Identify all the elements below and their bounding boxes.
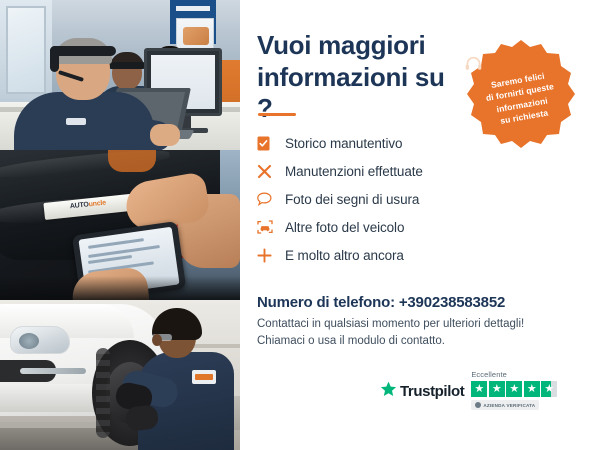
- tire-tread: [96, 348, 110, 438]
- trustpilot-logo: Trustpilot: [380, 381, 464, 402]
- uniform-logo: [192, 370, 216, 384]
- agent-1-headset-cup: [50, 46, 59, 72]
- banner-stripe: [176, 6, 210, 11]
- photo-column: AUTOuncle: [0, 0, 240, 450]
- agent-1-badge: [66, 118, 86, 125]
- feature-item-more-vehicle-photos: Altre foto del veicolo: [257, 213, 517, 241]
- page-title-line-1: Vuoi maggiori: [257, 30, 467, 62]
- wrench-tools-icon: [257, 164, 285, 179]
- document-check-icon: [257, 136, 285, 151]
- star-icon: ★: [506, 381, 522, 397]
- feature-label: Storico manutentivo: [285, 136, 402, 151]
- verified-business-badge: AZIENDA VERIFICATA: [471, 400, 539, 410]
- verified-badge-icon: [475, 402, 481, 408]
- star-icon: [380, 381, 397, 402]
- feature-label: Foto dei segni di usura: [285, 192, 419, 207]
- feature-item-much-more: E molto altro ancora: [257, 241, 517, 269]
- star-icon-half: ★: [541, 381, 557, 397]
- feature-item-maintenance-history: Storico manutentivo: [257, 129, 517, 157]
- verified-label: AZIENDA VERIFICATA: [483, 403, 535, 408]
- star-icon: ★: [524, 381, 540, 397]
- plus-icon: [257, 248, 285, 263]
- photo-technician-tablet-car-inspection: AUTOuncle: [0, 150, 240, 300]
- star-icon: ★: [489, 381, 505, 397]
- page-title: Vuoi maggiori informazioni su ?: [257, 30, 467, 125]
- chrome-trim: [20, 368, 86, 374]
- orange-top-accent: [108, 150, 156, 172]
- rating-label: Eccellente: [471, 370, 507, 379]
- trustpilot-wordmark: Trustpilot: [400, 383, 464, 400]
- phone-number[interactable]: +390238583852: [399, 294, 505, 311]
- feature-item-services-performed: Manutenzioni effettuate: [257, 157, 517, 185]
- content-panel: Vuoi maggiori informazioni su ? Saremo f…: [240, 0, 600, 450]
- photo-mechanic-wheel-inspection-on-lift: [0, 300, 240, 450]
- phone-number-line: Numero di telefono: +390238583852: [257, 294, 505, 311]
- feature-label: Manutenzioni effettuate: [285, 164, 423, 179]
- headlight: [10, 326, 70, 354]
- strip-logo: AUTOuncle: [70, 200, 107, 211]
- phone-label: Numero di telefono:: [257, 294, 399, 311]
- bottom-shadow: [0, 276, 240, 300]
- agent-2-headset: [108, 62, 146, 69]
- feature-list: Storico manutentivo Manutenzioni effettu…: [257, 129, 517, 269]
- contact-text-line-2: Chiamaci o usa il modulo di contatto.: [257, 335, 445, 347]
- contact-text-line-1: Contattaci in qualsiasi momento per ulte…: [257, 318, 524, 330]
- agent-1-hand: [150, 124, 180, 146]
- photo-call-center-agents-with-headsets: [0, 0, 240, 150]
- trustpilot-rating: Eccellente ★ ★ ★ ★ ★ AZIENDA VERIFICATA: [471, 370, 557, 410]
- car-frame-icon: [257, 220, 285, 234]
- feature-item-wear-photos: Foto dei segni di usura: [257, 185, 517, 213]
- window-mullion: [6, 6, 46, 94]
- trustpilot-widget[interactable]: Trustpilot Eccellente ★ ★ ★ ★ ★ AZIENDA …: [380, 370, 585, 418]
- speech-bubble-icon: [257, 192, 285, 206]
- feature-label: Altre foto del veicolo: [285, 220, 404, 235]
- promo-card: AUTOuncle: [0, 0, 600, 450]
- agent-1-headset-band: [50, 46, 116, 56]
- star-rating: ★ ★ ★ ★ ★: [471, 381, 557, 397]
- star-icon: ★: [471, 381, 487, 397]
- title-underline-divider: [258, 113, 296, 116]
- mechanic-ear: [152, 334, 162, 346]
- feature-label: E molto altro ancora: [285, 248, 404, 263]
